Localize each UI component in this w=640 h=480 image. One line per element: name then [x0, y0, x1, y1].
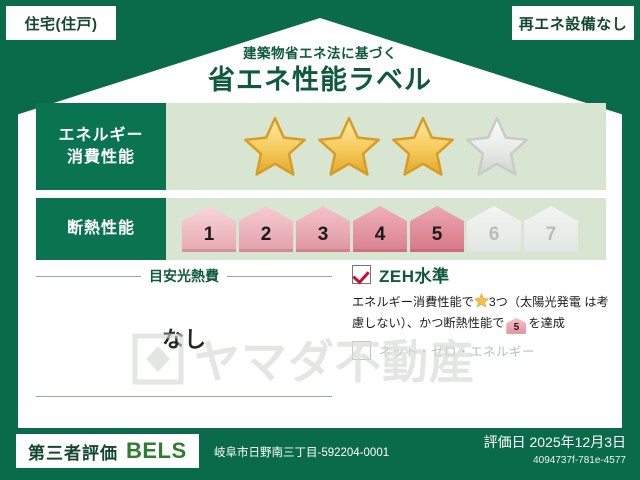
net-zero-checkbox-icon[interactable] — [352, 341, 371, 360]
evaluation-date: 評価日 2025年12月3日 — [484, 432, 626, 452]
zeh-title-row: ZEH水準 — [352, 262, 614, 287]
zeh-section: ZEH水準 エネルギー消費性能で 3つ（太陽光発電 は考慮しない）、かつ断熱性能… — [352, 262, 614, 360]
utility-cost-value: なし — [36, 322, 332, 354]
insulation-label-text: 断熱性能 — [67, 218, 135, 240]
star-filled-icon — [389, 114, 457, 180]
grade-number: 5 — [432, 224, 443, 252]
energy-stars-area — [166, 103, 606, 190]
energy-label-line1: エネルギー — [58, 125, 143, 147]
grade-number: 3 — [318, 224, 329, 252]
rule-left — [36, 276, 141, 277]
star-empty-icon — [463, 114, 531, 180]
rule-right — [227, 276, 332, 277]
evaluation-info: 評価日 2025年12月3日 4094737f-781e-4577 — [484, 432, 626, 466]
zeh-desc-part1: エネルギー消費性能で — [352, 295, 474, 309]
zeh-description: エネルギー消費性能で 3つ（太陽光発電 は考慮しない）、かつ断熱性能で5を達成 — [352, 293, 614, 334]
bels-jp-label: 第三者評価 — [28, 439, 118, 464]
utility-cost-section: 目安光熱費 なし — [36, 266, 332, 397]
property-address: 岐阜市日野南三丁目-592204-0001 — [214, 444, 389, 460]
utility-cost-heading-text: 目安光熱費 — [149, 266, 219, 286]
bels-en-label: BELS — [126, 438, 187, 464]
grade-number: 2 — [261, 224, 272, 252]
star-rating — [241, 114, 531, 180]
insulation-grade-7: 7 — [524, 206, 578, 252]
energy-label-line2: 消費性能 — [67, 147, 135, 169]
evaluation-id: 4094737f-781e-4577 — [484, 455, 626, 466]
zeh-desc-part3: を達成 — [528, 316, 565, 330]
energy-performance-row: エネルギー 消費性能 — [36, 103, 606, 190]
insulation-performance-label: 断熱性能 — [36, 198, 166, 260]
bels-energy-label: 住宅(住戸) 再エネ設備なし 建築物省エネ法に基づく 省エネ性能ラベル エネルギ… — [0, 0, 640, 480]
grade-number: 6 — [489, 224, 500, 252]
energy-performance-label: エネルギー 消費性能 — [36, 103, 166, 190]
insulation-grade-2: 2 — [239, 206, 293, 252]
grade-scale: 1234567 — [182, 206, 578, 252]
star-filled-icon — [315, 114, 383, 180]
insulation-grades-area: 1234567 — [166, 198, 606, 260]
inline-star-icon — [474, 293, 489, 314]
label-title: 省エネ性能ラベル — [0, 58, 640, 97]
utility-cost-heading: 目安光熱費 — [36, 266, 332, 286]
inline-grade-badge: 5 — [506, 318, 526, 334]
renewable-equipment-tag: 再エネ設備なし — [512, 6, 634, 40]
grade-number: 7 — [546, 224, 557, 252]
utility-cost-bottom-rule — [36, 396, 332, 397]
zeh-title: ZEH水準 — [379, 262, 450, 287]
zeh-checkbox-icon[interactable] — [352, 265, 371, 284]
star-filled-icon — [241, 114, 309, 180]
insulation-performance-row: 断熱性能 1234567 — [36, 198, 606, 260]
net-zero-label: ネット・ゼロ・エネルギー — [379, 341, 535, 360]
insulation-grade-5: 5 — [410, 206, 464, 252]
insulation-grade-4: 4 — [353, 206, 407, 252]
inline-grade-number: 5 — [506, 318, 526, 337]
insulation-grade-1: 1 — [182, 206, 236, 252]
zeh-desc-star-count: 3つ（太陽光発電 — [489, 295, 581, 309]
insulation-grade-6: 6 — [467, 206, 521, 252]
label-footer: 第三者評価 BELS 岐阜市日野南三丁目-592204-0001 評価日 202… — [0, 428, 640, 480]
grade-number: 4 — [375, 224, 386, 252]
grade-number: 1 — [204, 224, 215, 252]
net-zero-row: ネット・ゼロ・エネルギー — [352, 341, 614, 360]
bels-chip: 第三者評価 BELS — [16, 434, 199, 468]
insulation-grade-3: 3 — [296, 206, 350, 252]
building-type-tag: 住宅(住戸) — [6, 6, 116, 40]
